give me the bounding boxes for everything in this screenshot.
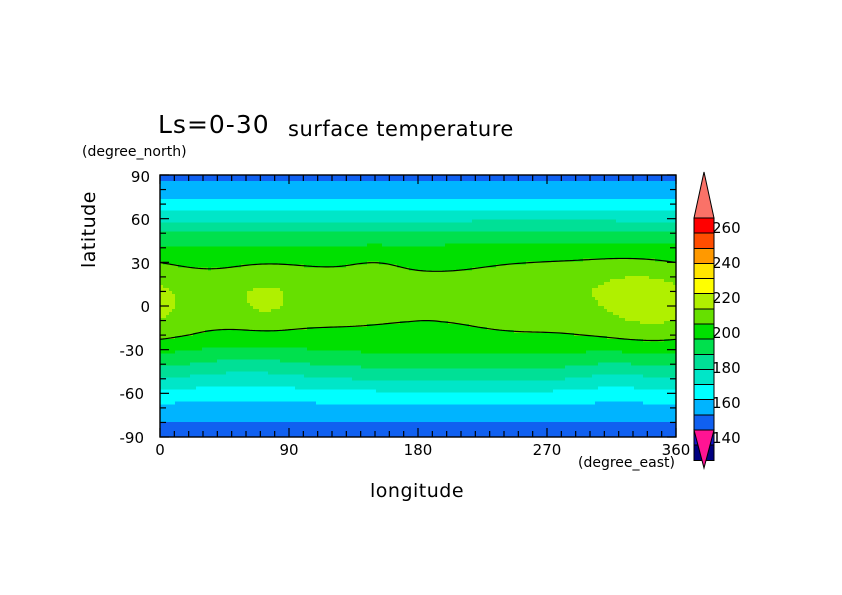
- temperature-field: [160, 175, 676, 437]
- figure-canvas: Ls=0-30 surface temperature (degree_nort…: [0, 0, 842, 595]
- contour-map-plot: [0, 0, 842, 595]
- colorbar[interactable]: [694, 172, 714, 468]
